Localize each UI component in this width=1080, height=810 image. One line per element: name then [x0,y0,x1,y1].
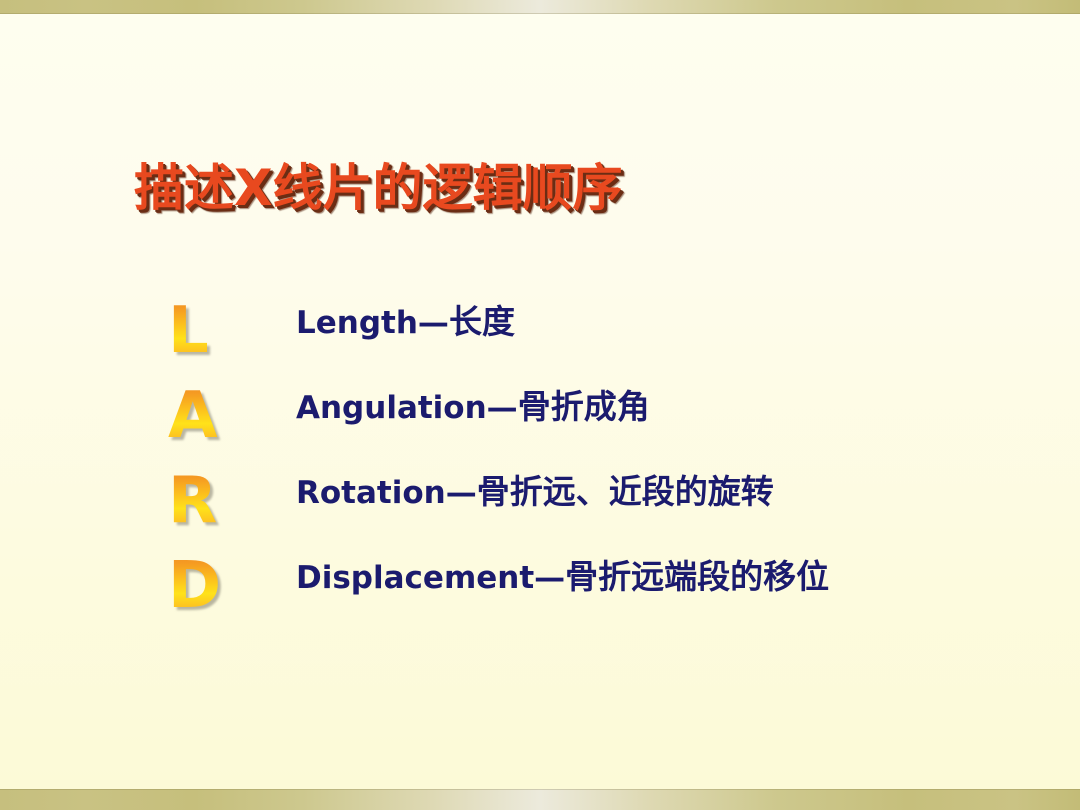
acronym-letter-r: R [168,466,258,551]
list-item-english: Displacement— [296,560,565,596]
list-item-displacement: Displacement—骨折远端段的移位 [296,551,829,636]
top-decorative-band [0,0,1080,14]
list-item-length: Length—长度 [296,296,829,381]
list-item-english: Length— [296,305,449,341]
acronym-letter-l: L [168,296,258,381]
bullet-list: Length—长度 Angulation—骨折成角 Rotation—骨折远、近… [296,296,829,636]
list-item-chinese: 骨折远端段的移位 [565,557,829,596]
list-item-rotation: Rotation—骨折远、近段的旋转 [296,466,829,551]
acronym-column: L A R D [168,296,258,636]
list-item-english: Angulation— [296,390,518,426]
list-item-chinese: 骨折成角 [518,387,650,426]
acronym-letter-d: D [168,551,258,636]
acronym-letter-a: A [168,381,258,466]
slide-canvas: 描述X线片的逻辑顺序 L A R D Length—长度 Angulation—… [0,0,1080,810]
bottom-decorative-band [0,789,1080,810]
list-item-chinese: 长度 [449,302,515,341]
list-item-chinese: 骨折远、近段的旋转 [477,472,774,511]
list-item-english: Rotation— [296,475,477,511]
list-item-angulation: Angulation—骨折成角 [296,381,829,466]
page-title: 描述X线片的逻辑顺序 [134,160,623,216]
